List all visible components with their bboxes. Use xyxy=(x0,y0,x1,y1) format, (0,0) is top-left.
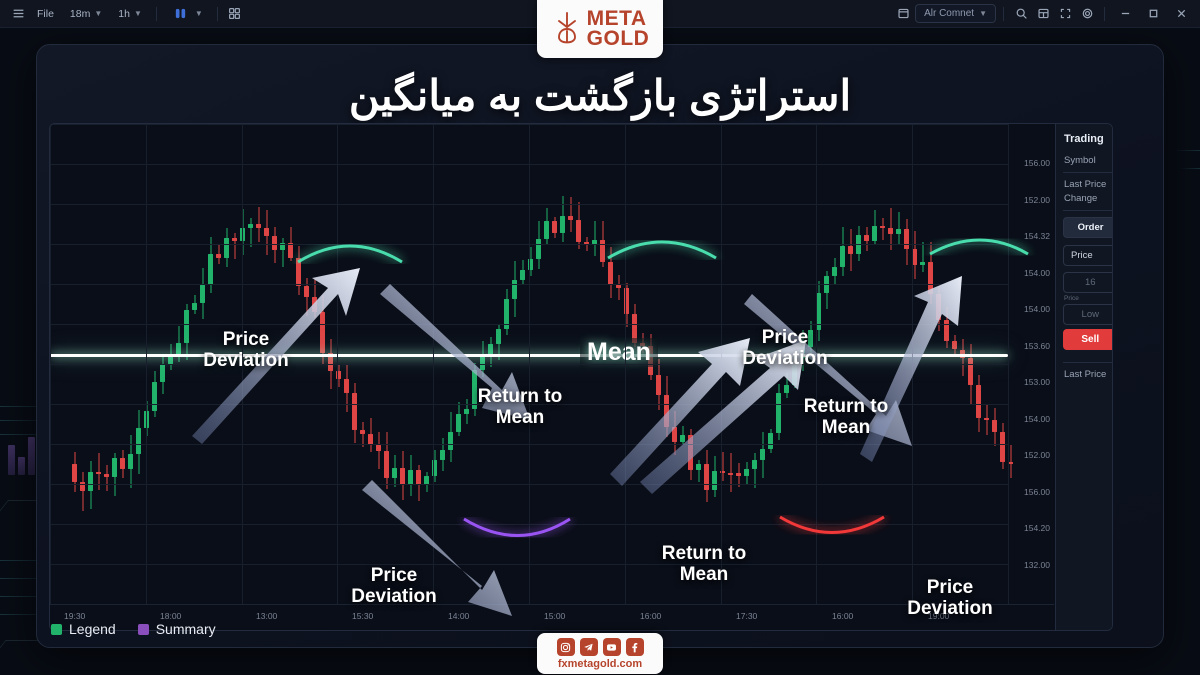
sell-button[interactable]: Sell xyxy=(1063,329,1113,350)
candle-body xyxy=(208,254,213,286)
candle-body xyxy=(656,375,661,396)
candle-wick xyxy=(882,218,883,241)
youtube-icon[interactable] xyxy=(603,638,621,656)
candle-body xyxy=(232,238,237,241)
fullscreen-icon[interactable] xyxy=(1055,4,1075,24)
option-low[interactable]: Low xyxy=(1063,304,1113,325)
chart-legend: Legend Summary xyxy=(51,621,216,637)
trading-panel: Trading ··· Symbol XYZ Last Price 154.32… xyxy=(1055,124,1113,380)
candle-body xyxy=(152,382,157,411)
candle-body xyxy=(480,355,485,370)
candle-body xyxy=(264,228,269,235)
candle-body xyxy=(128,454,133,468)
candle-body xyxy=(400,468,405,485)
panel-icon[interactable] xyxy=(893,4,913,24)
chevron-down-icon: ▼ xyxy=(134,9,142,18)
candle-wick xyxy=(722,452,723,481)
candle-body xyxy=(576,220,581,242)
side-options: Low Right xyxy=(1055,302,1113,325)
grid-line-horizontal xyxy=(50,564,1008,565)
candle-body xyxy=(744,469,749,476)
minimize-icon[interactable] xyxy=(1112,3,1138,25)
trading-panel-title: Trading xyxy=(1064,133,1104,145)
candle-body xyxy=(840,246,845,268)
candle-body xyxy=(920,262,925,265)
candle-body xyxy=(440,450,445,460)
annotation-return-to-mean-2: Return to Mean xyxy=(640,543,768,586)
telegram-icon[interactable] xyxy=(580,638,598,656)
candle-body xyxy=(296,258,301,285)
gear-icon[interactable] xyxy=(1077,4,1097,24)
candle-body xyxy=(304,286,309,297)
grid-line-horizontal xyxy=(50,484,1008,485)
search-icon[interactable] xyxy=(1011,4,1031,24)
facebook-icon[interactable] xyxy=(626,638,644,656)
annotation-return-to-mean-3: Return to Mean xyxy=(782,396,910,439)
annotation-price-deviation-1: Price Deviation xyxy=(187,329,305,372)
annotation-price-deviation-2: Price Deviation xyxy=(332,565,456,608)
price-tick-label: 154.00 xyxy=(1024,414,1050,424)
candle-body xyxy=(936,294,941,321)
candle-body xyxy=(520,270,525,281)
change-label: Change xyxy=(1064,193,1097,204)
candle-body xyxy=(200,285,205,303)
candle-wick xyxy=(594,221,595,256)
grid-line-horizontal xyxy=(50,124,1008,125)
candle-body xyxy=(192,303,197,310)
candle-body xyxy=(888,228,893,235)
candle-body xyxy=(320,312,325,353)
legend-label: Summary xyxy=(156,621,216,637)
brand-line-2: GOLD xyxy=(587,29,650,49)
candle-body xyxy=(360,430,365,434)
trade-buttons: Sell Buy xyxy=(1055,325,1113,350)
candle-body xyxy=(224,238,229,258)
grid-line-horizontal xyxy=(50,164,1008,165)
candle-wick xyxy=(106,465,107,491)
candle-body xyxy=(768,433,773,449)
candle-body xyxy=(984,418,989,420)
price-tick-label: 152.00 xyxy=(1024,450,1050,460)
candle-body xyxy=(968,358,973,385)
site-badge: fxmetagold.com xyxy=(537,633,663,674)
candle-wick xyxy=(378,432,379,470)
candle-wick xyxy=(82,472,83,511)
candle-body xyxy=(496,329,501,344)
candle-body xyxy=(512,280,517,299)
amount-row: 16 USD xyxy=(1055,266,1113,293)
candle-body xyxy=(760,449,765,460)
candle-body xyxy=(880,226,885,228)
instagram-icon[interactable] xyxy=(557,638,575,656)
candle-body xyxy=(344,379,349,393)
candle-body xyxy=(560,216,565,234)
candle-body xyxy=(728,473,733,475)
file-menu[interactable]: File xyxy=(30,4,61,24)
symbol-label: Symbol xyxy=(1064,155,1096,166)
candle-wick xyxy=(234,233,235,259)
candle-body xyxy=(536,239,541,259)
candle-wick xyxy=(922,242,923,272)
footer-last-price-label: Last Price xyxy=(1064,369,1106,380)
candle-body xyxy=(672,427,677,442)
mean-label: Mean xyxy=(580,338,658,367)
candle-body xyxy=(248,224,253,228)
anchor-icon xyxy=(551,9,583,49)
candle-body xyxy=(832,267,837,275)
candle-body xyxy=(976,385,981,418)
candle-body xyxy=(704,464,709,490)
brand-logo: META GOLD xyxy=(537,0,663,58)
price-axis: 156.00152.00154.32154.00154.00153.60153.… xyxy=(1008,124,1054,604)
candle-body xyxy=(568,216,573,220)
timeframe-2-label: 1h xyxy=(118,8,130,20)
timeframe-1-label: 18m xyxy=(70,8,90,20)
candle-body xyxy=(784,385,789,394)
candle-body xyxy=(104,474,109,477)
candle-body xyxy=(904,229,909,248)
grid-line-horizontal xyxy=(50,204,1008,205)
site-url: fxmetagold.com xyxy=(537,658,663,670)
legend-swatch xyxy=(51,624,62,635)
grid-line-horizontal xyxy=(50,244,1008,245)
maximize-icon[interactable] xyxy=(1140,3,1166,25)
grid-line-horizontal xyxy=(50,324,1008,325)
toolbar-divider xyxy=(156,7,157,21)
page-title: استراتژی بازگشت به میانگین xyxy=(37,71,1163,120)
chevron-down-icon: ▼ xyxy=(195,9,203,18)
close-icon[interactable] xyxy=(1168,3,1194,25)
candle-wick xyxy=(698,460,699,482)
candle-body xyxy=(72,464,77,482)
candle-body xyxy=(448,432,453,450)
account-selector[interactable]: Alr Comnet ▼ xyxy=(915,4,996,23)
time-tick-label: 15:30 xyxy=(352,611,373,621)
candle-body xyxy=(352,393,357,430)
field-caption: Price xyxy=(1055,293,1113,302)
candle-body xyxy=(752,460,757,469)
toolbar-divider xyxy=(217,7,218,21)
amount-input[interactable]: 16 xyxy=(1063,272,1113,293)
grid-line-horizontal xyxy=(50,524,1008,525)
candle-body xyxy=(928,262,933,294)
candle-body xyxy=(544,221,549,238)
timeframe-selector-1[interactable]: 18m ▼ xyxy=(63,4,109,24)
candle-body xyxy=(88,472,93,491)
social-links xyxy=(537,638,663,656)
candle-body xyxy=(896,229,901,234)
time-tick-label: 19:30 xyxy=(64,611,85,621)
candle-body xyxy=(408,470,413,485)
price-tick-label: 154.32 xyxy=(1024,231,1050,241)
candle-body xyxy=(776,393,781,432)
grid-line-horizontal xyxy=(50,284,1008,285)
account-label: Alr Comnet xyxy=(924,8,974,19)
brand-line-1: META xyxy=(587,9,650,29)
candle-body xyxy=(616,285,621,288)
candle-body xyxy=(288,243,293,259)
price-tick-label: 132.00 xyxy=(1024,560,1050,570)
candle-body xyxy=(216,254,221,259)
legend-item[interactable]: Legend xyxy=(51,621,116,637)
chevron-down-icon: ▼ xyxy=(979,9,987,18)
last-price-label: Last Price xyxy=(1064,179,1106,190)
candle-body xyxy=(608,262,613,285)
tab-order-active[interactable]: Order xyxy=(1063,217,1113,238)
order-tabs: Order Order xyxy=(1055,217,1113,238)
candle-body xyxy=(736,473,741,477)
candle-body xyxy=(136,428,141,454)
annotation-return-to-mean-1: Return to Mean xyxy=(456,386,584,429)
timeframe-selector-2[interactable]: 1h ▼ xyxy=(111,4,149,24)
divider xyxy=(1063,362,1113,363)
toolbar-divider xyxy=(1104,7,1105,21)
candle-body xyxy=(1000,432,1005,462)
price-type-select[interactable]: Price ▼ xyxy=(1063,245,1113,266)
divider xyxy=(1063,210,1113,211)
hamburger-icon[interactable] xyxy=(8,4,28,24)
candle-body xyxy=(712,471,717,490)
candles-icon xyxy=(171,4,191,24)
app-window: File 18m ▼ 1h ▼ ▼ xyxy=(0,0,1200,675)
price-tick-label: 154.00 xyxy=(1024,268,1050,278)
time-tick-label: 13:00 xyxy=(256,611,277,621)
time-tick-label: 14:00 xyxy=(448,611,469,621)
toolbar-divider xyxy=(1003,7,1004,21)
chart-area[interactable]: Mean 156.00152.00154.32154.00154.00153.6… xyxy=(49,123,1113,631)
price-tick-label: 153.00 xyxy=(1024,377,1050,387)
candle-body xyxy=(96,472,101,474)
legend-item[interactable]: Summary xyxy=(138,621,216,637)
candle-body xyxy=(680,435,685,441)
price-tick-label: 156.00 xyxy=(1024,487,1050,497)
candle-body xyxy=(992,420,997,433)
candle-body xyxy=(664,395,669,426)
candle-body xyxy=(696,464,701,470)
candle-body xyxy=(272,236,277,250)
candle-body xyxy=(848,246,853,254)
candle-body xyxy=(256,224,261,228)
price-tick-label: 152.00 xyxy=(1024,195,1050,205)
chevron-down-icon: ▼ xyxy=(94,9,102,18)
candle-body xyxy=(416,470,421,485)
grid-line-horizontal xyxy=(50,444,1008,445)
candle-body xyxy=(552,221,557,233)
annotation-price-deviation-3: Price Deviation xyxy=(726,327,844,370)
chart-panel: استراتژی بازگشت به میانگین فاصله گرفتن ق… xyxy=(36,44,1164,648)
legend-label: Legend xyxy=(69,621,116,637)
candle-wick xyxy=(570,197,571,232)
annotation-price-deviation-4: Price Deviation xyxy=(888,577,1012,620)
file-label: File xyxy=(37,8,54,20)
candle-body xyxy=(160,364,165,381)
price-type-value: Price xyxy=(1071,250,1093,261)
candle-wick xyxy=(250,218,251,247)
time-tick-label: 17:30 xyxy=(736,611,757,621)
candle-wick xyxy=(898,212,899,244)
time-tick-label: 16:00 xyxy=(832,611,853,621)
candle-body xyxy=(120,458,125,468)
time-tick-label: 15:00 xyxy=(544,611,565,621)
price-tick-label: 156.00 xyxy=(1024,158,1050,168)
price-tick-label: 153.60 xyxy=(1024,341,1050,351)
candle-wick xyxy=(986,405,987,435)
candle-body xyxy=(376,445,381,451)
candle-body xyxy=(688,435,693,470)
candle-body xyxy=(112,458,117,477)
candle-body xyxy=(392,468,397,477)
screenshot-icon[interactable] xyxy=(1033,4,1053,24)
grid-icon[interactable] xyxy=(225,4,245,24)
divider xyxy=(1063,172,1113,173)
chart-type-selector[interactable]: ▼ xyxy=(164,4,210,24)
candle-body xyxy=(872,226,877,242)
candle-body xyxy=(864,235,869,241)
candle-body xyxy=(312,297,317,313)
price-tick-label: 154.00 xyxy=(1024,304,1050,314)
candle-body xyxy=(952,341,957,350)
legend-swatch xyxy=(138,624,149,635)
candle-body xyxy=(384,451,389,478)
time-tick-label: 18:00 xyxy=(160,611,181,621)
price-tick-label: 154.20 xyxy=(1024,523,1050,533)
time-tick-label: 16:00 xyxy=(640,611,661,621)
